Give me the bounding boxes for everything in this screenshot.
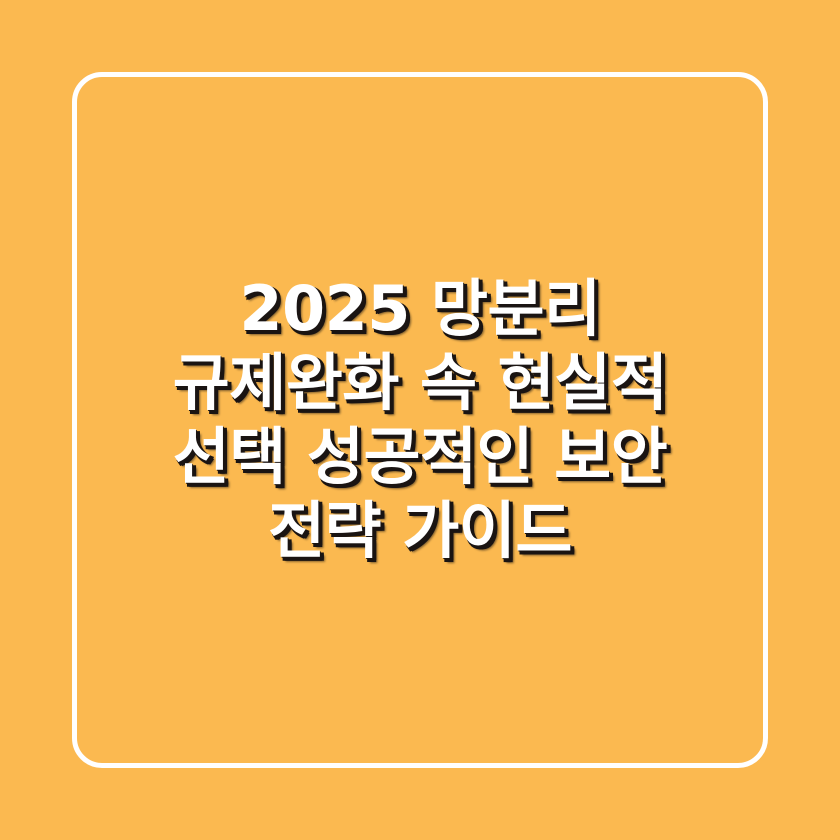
thumbnail-canvas: 2025 망분리 규제완화 속 현실적 선택 성공적인 보안 전략 가이드 [0,0,840,840]
title-line-1: 2025 망분리 [78,272,762,346]
title-line-3: 선택 성공적인 보안 [78,420,762,494]
title-line-2: 규제완화 속 현실적 [78,346,762,420]
title-line-4: 전략 가이드 [78,494,762,568]
title-block: 2025 망분리 규제완화 속 현실적 선택 성공적인 보안 전략 가이드 [0,0,840,840]
